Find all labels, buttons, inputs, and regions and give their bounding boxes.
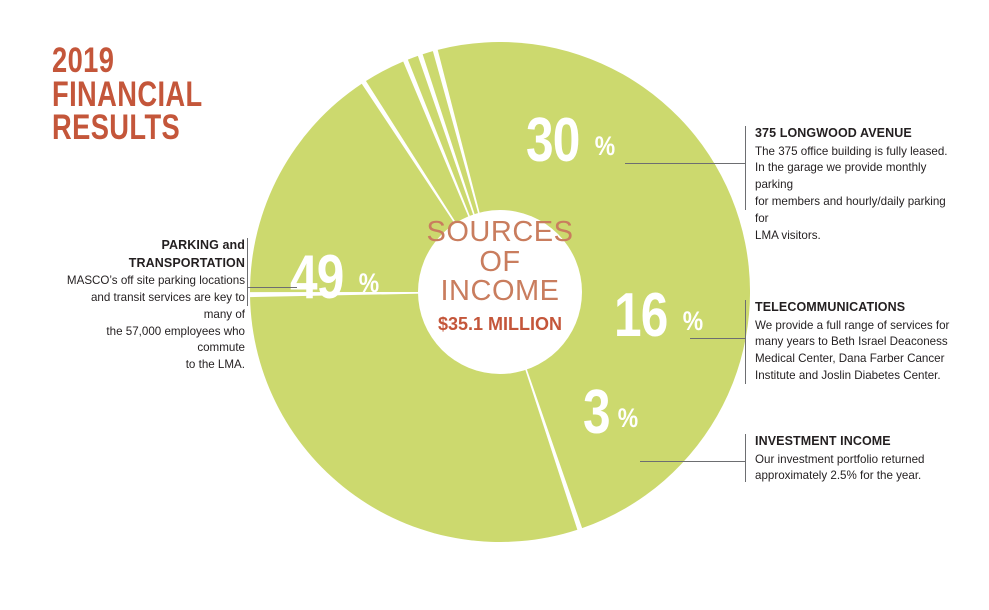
- callout-parking-and-transportation[interactable]: PARKING and TRANSPORTATION MASCO’s off s…: [60, 238, 245, 374]
- slice-label-30-percent: 30%: [526, 110, 617, 172]
- leader-line-parking: [247, 287, 297, 288]
- page-title-line-3: RESULTS: [52, 111, 203, 145]
- callout-title-telecom: TELECOMMUNICATIONS: [755, 300, 953, 316]
- leader-line-telecom: [690, 338, 745, 339]
- callout-body-investment: Our investment portfolio returned approx…: [755, 452, 953, 486]
- slice-label-49-symbol: %: [359, 270, 379, 297]
- callout-body-parking: MASCO’s off site parking locations and t…: [60, 273, 245, 374]
- callout-body-parking-line-3: the 57,000 employees who commute: [60, 324, 245, 358]
- callout-title-investment: INVESTMENT INCOME: [755, 434, 953, 450]
- callout-body-telecom: We provide a full range of services for …: [755, 318, 953, 385]
- callout-body-longwood-line-4: LMA visitors.: [755, 228, 955, 245]
- callout-body-longwood: The 375 office building is fully leased.…: [755, 144, 955, 245]
- callout-body-investment-line-2: approximately 2.5% for the year.: [755, 468, 953, 485]
- callout-body-parking-line-1: MASCO’s off site parking locations: [60, 273, 245, 290]
- callout-investment-income[interactable]: INVESTMENT INCOME Our investment portfol…: [755, 434, 953, 485]
- callout-body-longwood-line-1: The 375 office building is fully leased.: [755, 144, 955, 161]
- callout-title-longwood: 375 LONGWOOD AVENUE: [755, 126, 955, 142]
- callout-375-longwood-avenue[interactable]: 375 LONGWOOD AVENUE The 375 office build…: [755, 126, 955, 244]
- callout-rule-investment: [745, 434, 746, 482]
- slice-label-3-symbol: %: [618, 405, 638, 432]
- page-title-line-1: 2019: [52, 44, 203, 78]
- slice-label-30-symbol: %: [595, 133, 615, 160]
- callout-title-parking-line-2: TRANSPORTATION: [60, 256, 245, 272]
- callout-telecommunications[interactable]: TELECOMMUNICATIONS We provide a full ran…: [755, 300, 953, 385]
- leader-line-longwood: [625, 163, 745, 164]
- page-title-line-2: FINANCIAL: [52, 78, 203, 112]
- callout-rule-parking: [247, 238, 248, 306]
- donut-center-line-1: SOURCES: [418, 218, 582, 248]
- slice-label-3-percent: 3%: [583, 382, 641, 444]
- slice-label-16-number: 16: [614, 285, 668, 347]
- callout-title-parking-line-1: PARKING and: [60, 238, 245, 254]
- callout-body-telecom-line-1: We provide a full range of services for: [755, 318, 953, 335]
- callout-body-longwood-line-2: In the garage we provide monthly parking: [755, 160, 955, 194]
- callout-body-telecom-line-4: Institute and Joslin Diabetes Center.: [755, 368, 953, 385]
- donut-center-line-2: OF: [418, 248, 582, 278]
- donut-center-label: SOURCES OF INCOME $35.1 MILLION: [418, 218, 582, 335]
- sources-of-income-pie-chart: 49% 30% 16% 3% SOURCES OF INCOME $35.1 M…: [250, 42, 750, 542]
- callout-rule-telecom: [745, 300, 746, 384]
- callout-rule-longwood: [745, 126, 746, 210]
- donut-center-amount: $35.1 MILLION: [418, 314, 582, 335]
- callout-body-telecom-line-3: Medical Center, Dana Farber Cancer: [755, 351, 953, 368]
- page-title: 2019 FINANCIAL RESULTS: [52, 44, 245, 145]
- callout-body-parking-line-2: and transit services are key to many of: [60, 290, 245, 324]
- callout-body-investment-line-1: Our investment portfolio returned: [755, 452, 953, 469]
- donut-center-line-3: INCOME: [418, 277, 582, 307]
- callout-body-longwood-line-3: for members and hourly/daily parking for: [755, 194, 955, 228]
- slice-label-49-percent: 49%: [290, 247, 381, 309]
- leader-line-investment: [640, 461, 745, 462]
- slice-label-30-number: 30: [526, 110, 580, 172]
- callout-body-telecom-line-2: many years to Beth Israel Deaconess: [755, 334, 953, 351]
- slice-label-3-number: 3: [583, 382, 610, 444]
- callout-body-parking-line-4: to the LMA.: [60, 357, 245, 374]
- slice-label-49-number: 49: [290, 247, 344, 309]
- slice-label-16-symbol: %: [683, 308, 703, 335]
